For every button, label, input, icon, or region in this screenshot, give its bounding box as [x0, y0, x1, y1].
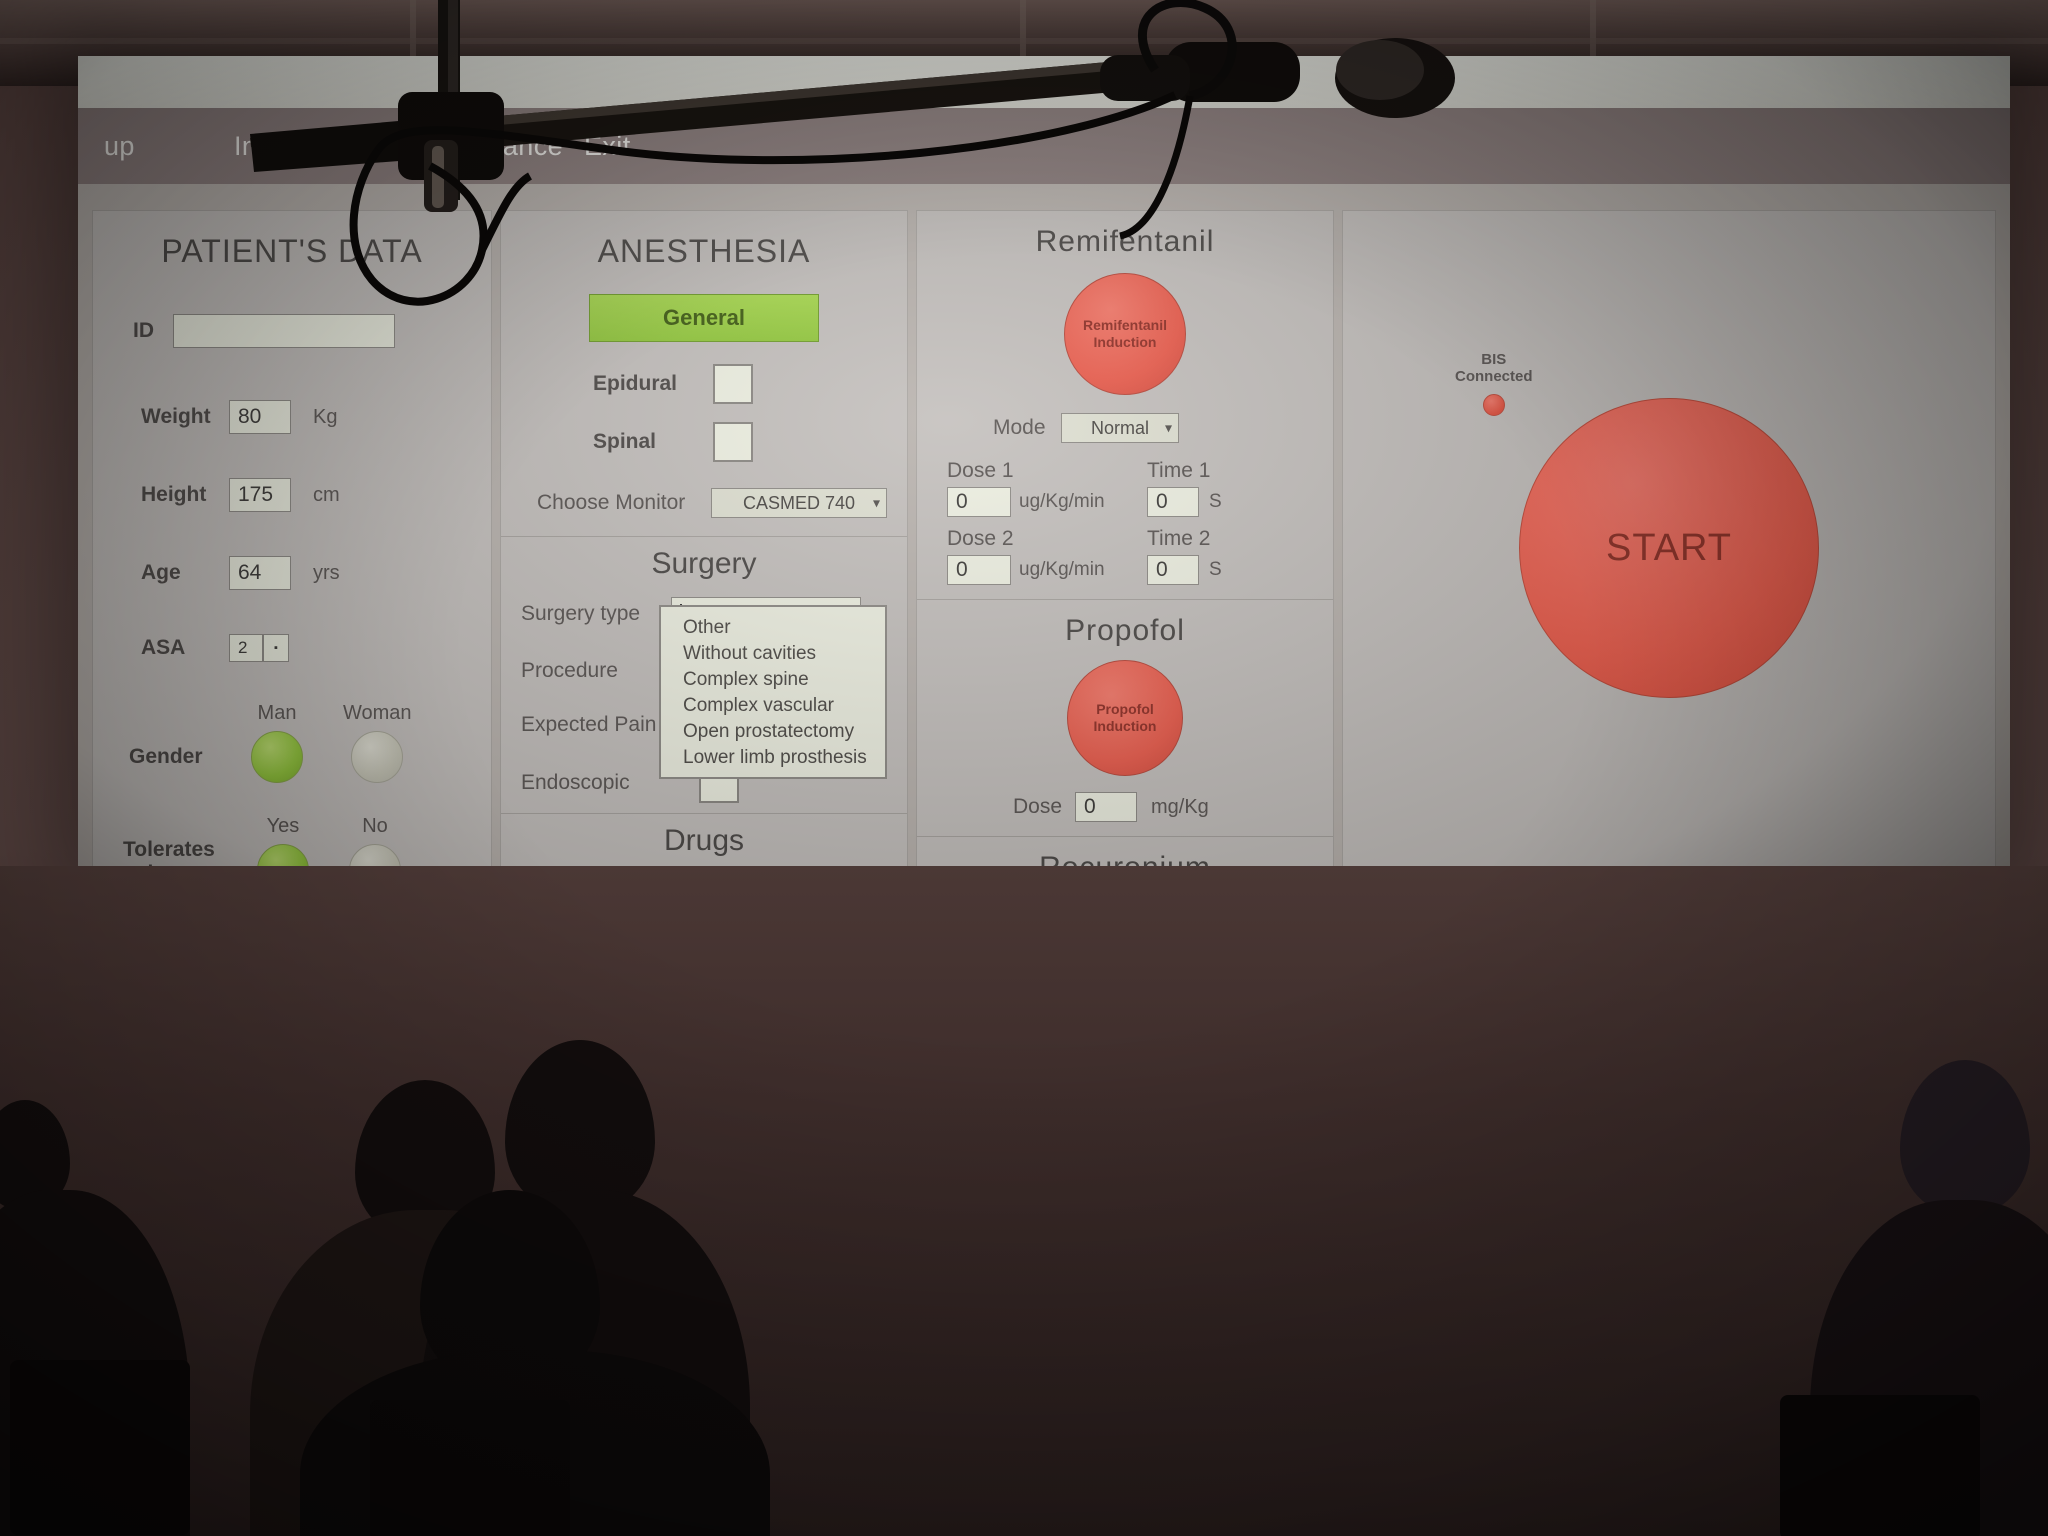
- surgery-type-option-1[interactable]: Without cavities: [661, 641, 885, 667]
- remifentanil-dose2-unit: ug/Kg/min: [1019, 559, 1105, 581]
- start-panel: BIS Connected START: [1342, 210, 1996, 866]
- weight-label: Weight: [141, 405, 229, 429]
- drug-delivery-column: Remifentanil Remifentanil Induction Mode…: [916, 210, 1334, 866]
- remifentanil-time2-label: Time 2: [1147, 527, 1277, 551]
- screenshot-stage: up Induction Maintenance Exit PATIENT'S …: [0, 0, 2048, 1536]
- projection-screen: up Induction Maintenance Exit PATIENT'S …: [78, 56, 2010, 866]
- remifentanil-dose1-label: Dose 1: [947, 459, 1147, 483]
- gender-man-radio[interactable]: [251, 731, 303, 783]
- remifentanil-time2-unit: S: [1209, 559, 1222, 581]
- age-label: Age: [141, 561, 229, 585]
- remifentanil-time1-unit: S: [1209, 491, 1222, 513]
- gender-man-label: Man: [258, 702, 297, 725]
- gender-woman-radio[interactable]: [351, 731, 403, 783]
- patient-data-title: PATIENT'S DATA: [93, 211, 491, 270]
- panels-container: PATIENT'S DATA ID Weight 80 Kg Height 17…: [92, 210, 1996, 866]
- remifentanil-dose2-input[interactable]: 0: [947, 555, 1011, 585]
- id-label: ID: [133, 319, 173, 343]
- audience-chair-2: [370, 1400, 570, 1536]
- surgery-type-label: Surgery type: [521, 602, 671, 626]
- procedure-label: Procedure: [521, 659, 671, 683]
- surgery-section: Surgery Surgery type ▾ Procedure: [501, 537, 907, 813]
- remifentanil-dose2-label: Dose 2: [947, 527, 1147, 551]
- surgery-title: Surgery: [501, 537, 907, 587]
- tolerates-volume-yes-label: Yes: [267, 815, 300, 838]
- menu-item-exit[interactable]: Exit: [584, 131, 704, 162]
- propofol-induction-button[interactable]: Propofol Induction: [1067, 660, 1183, 776]
- height-unit: cm: [313, 484, 340, 507]
- remifentanil-time1-label: Time 1: [1147, 459, 1277, 483]
- id-input[interactable]: [173, 314, 395, 348]
- epidural-label: Epidural: [593, 372, 713, 396]
- remifentanil-induction-label-line1: Remifentanil: [1083, 317, 1167, 335]
- bis-label-line1: BIS: [1455, 351, 1533, 368]
- propofol-dose-unit: mg/Kg: [1151, 796, 1209, 819]
- endoscopic-label: Endoscopic: [521, 771, 671, 795]
- remifentanil-mode-label: Mode: [993, 416, 1061, 440]
- general-anesthesia-button[interactable]: General: [589, 294, 819, 342]
- rocuronium-title: Rocuronium: [917, 837, 1333, 866]
- audience-chair-3: [1780, 1395, 1980, 1536]
- anesthesia-title: ANESTHESIA: [501, 211, 907, 270]
- remifentanil-induction-button[interactable]: Remifentanil Induction: [1064, 273, 1186, 395]
- tolerates-volume-label-line1: Tolerates: [123, 838, 239, 862]
- surgery-type-option-3[interactable]: Complex vascular: [661, 693, 885, 719]
- asa-stepper-icon[interactable]: ▪: [263, 634, 289, 662]
- surgery-type-option-0[interactable]: Other: [661, 615, 885, 641]
- audience-chair-1: [10, 1360, 190, 1535]
- menu-bar: up Induction Maintenance Exit: [78, 108, 2010, 184]
- screen-top-border: [78, 56, 2010, 108]
- menu-item-setup[interactable]: up: [104, 131, 234, 162]
- surgery-type-option-2[interactable]: Complex spine: [661, 667, 885, 693]
- propofol-dose-label: Dose: [1013, 795, 1075, 819]
- tolerates-volume-option-no[interactable]: No: [349, 815, 401, 866]
- propofol-induction-label-line2: Induction: [1094, 718, 1157, 736]
- drugs-section: Drugs Remifentanil Concentration 50 ug/m…: [501, 814, 907, 866]
- rocuronium-section: Rocuronium Rocuronium Induction Dose 0.4…: [917, 837, 1333, 866]
- spinal-label: Spinal: [593, 430, 713, 454]
- anesthesia-section: ANESTHESIA General Epidural Spinal Choos…: [501, 211, 907, 536]
- tolerates-volume-option-yes[interactable]: Yes: [257, 815, 309, 866]
- propofol-induction-label-line1: Propofol: [1096, 701, 1154, 719]
- tolerates-volume-no-label: No: [362, 815, 388, 838]
- drugs-title: Drugs: [501, 814, 907, 864]
- remifentanil-dose1-unit: ug/Kg/min: [1019, 491, 1105, 513]
- remifentanil-dose1-input[interactable]: 0: [947, 487, 1011, 517]
- choose-monitor-value: CASMED 740: [743, 493, 855, 514]
- age-input[interactable]: 64: [229, 556, 291, 590]
- tolerates-volume-yes-radio[interactable]: [257, 844, 309, 866]
- remifentanil-time2-input[interactable]: 0: [1147, 555, 1199, 585]
- asa-label: ASA: [141, 636, 229, 660]
- remifentanil-mode-value: Normal: [1091, 418, 1149, 439]
- patient-data-panel: PATIENT'S DATA ID Weight 80 Kg Height 17…: [92, 210, 492, 866]
- choose-monitor-label: Choose Monitor: [537, 491, 711, 515]
- spinal-checkbox[interactable]: [713, 422, 753, 462]
- epidural-checkbox[interactable]: [713, 364, 753, 404]
- anesthesia-application-window: up Induction Maintenance Exit PATIENT'S …: [78, 108, 2010, 866]
- remifentanil-mode-chevron-down-icon: ▾: [1165, 420, 1172, 437]
- gender-option-woman[interactable]: Woman: [343, 702, 412, 783]
- tolerates-volume-no-radio[interactable]: [349, 844, 401, 866]
- asa-input[interactable]: 2: [229, 634, 263, 662]
- menu-item-induction[interactable]: Induction: [234, 131, 404, 162]
- remifentanil-time1-input[interactable]: 0: [1147, 487, 1199, 517]
- menu-item-maintenance[interactable]: Maintenance: [404, 131, 584, 162]
- bis-label-line2: Connected: [1455, 368, 1533, 385]
- gender-option-man[interactable]: Man: [251, 702, 303, 783]
- start-button[interactable]: START: [1519, 398, 1819, 698]
- gender-woman-label: Woman: [343, 702, 412, 725]
- choose-monitor-select[interactable]: CASMED 740 ▾: [711, 488, 887, 518]
- weight-unit: Kg: [313, 406, 337, 429]
- propofol-title: Propofol: [917, 600, 1333, 648]
- surgery-type-option-5[interactable]: Lower limb prosthesis: [661, 745, 885, 771]
- remifentanil-mode-select[interactable]: Normal ▾: [1061, 413, 1179, 443]
- bis-status-led-icon: [1483, 394, 1505, 416]
- remifentanil-section: Remifentanil Remifentanil Induction Mode…: [917, 211, 1333, 599]
- propofol-dose-input[interactable]: 0: [1075, 792, 1137, 822]
- anesthesia-surgery-drugs-column: ANESTHESIA General Epidural Spinal Choos…: [500, 210, 908, 866]
- weight-input[interactable]: 80: [229, 400, 291, 434]
- propofol-section: Propofol Propofol Induction Dose 0 mg/Kg: [917, 600, 1333, 836]
- height-label: Height: [141, 483, 229, 507]
- bis-connected-indicator: BIS Connected: [1455, 351, 1533, 416]
- surgery-type-dropdown-list[interactable]: Other Without cavities Complex spine Com…: [659, 605, 887, 779]
- chevron-down-icon: ▾: [873, 495, 880, 512]
- remifentanil-induction-label-line2: Induction: [1094, 334, 1157, 352]
- remifentanil-title: Remifentanil: [917, 211, 1333, 259]
- age-unit: yrs: [313, 562, 340, 585]
- gender-label: Gender: [129, 745, 239, 783]
- surgery-type-option-4[interactable]: Open prostatectomy: [661, 719, 885, 745]
- height-input[interactable]: 175: [229, 478, 291, 512]
